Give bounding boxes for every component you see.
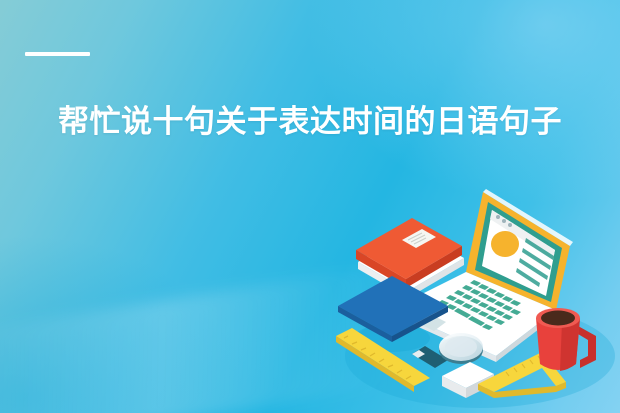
background-light-streak [0,268,387,413]
study-desk-illustration [330,186,620,413]
window-dot-3 [508,223,512,227]
window-dot-1 [496,215,500,219]
window-avatar-circle [491,231,519,257]
window-dot-2 [502,219,506,223]
magnifier-lens-inner [445,337,477,357]
mug-coffee [541,311,575,326]
article-banner: 帮忙说十句关于表达时间的日语句子 [0,0,620,413]
title-accent-rule [25,52,90,56]
page-title: 帮忙说十句关于表达时间的日语句子 [0,103,620,141]
